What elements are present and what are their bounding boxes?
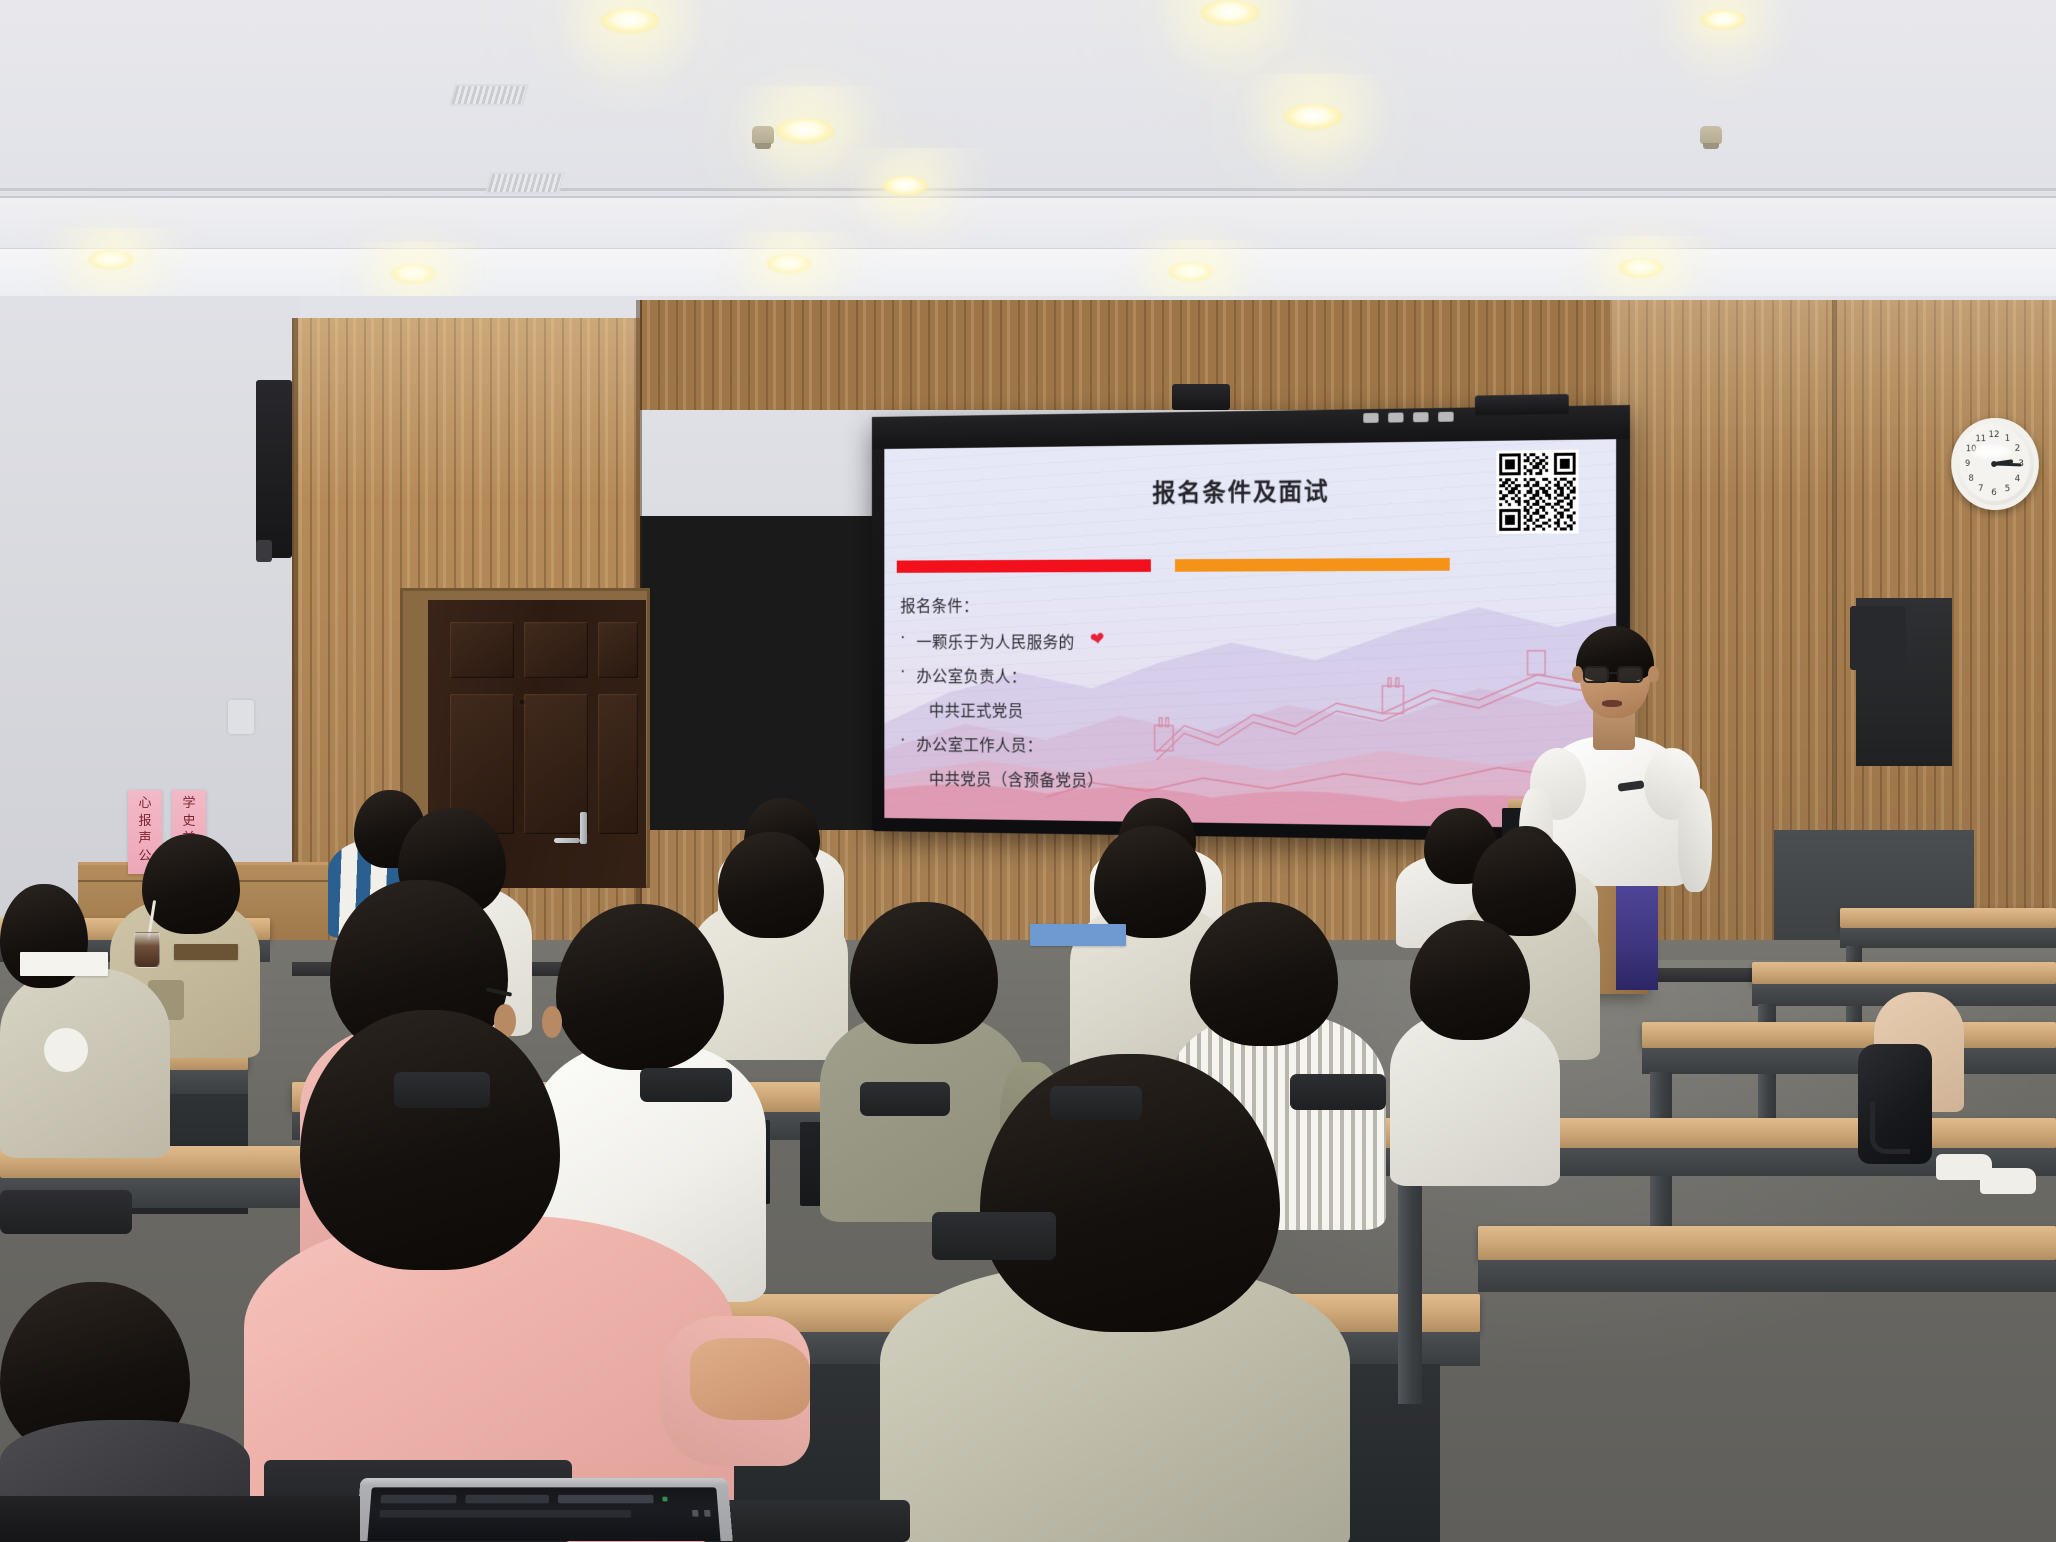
student-head bbox=[850, 902, 998, 1044]
speaker-mount bbox=[256, 540, 272, 562]
air-vent-icon bbox=[449, 84, 529, 106]
slide-bullet-1-text: 一颗乐于为人民服务的 bbox=[916, 629, 1074, 653]
backpack bbox=[1858, 1044, 1932, 1164]
display-camera-icon bbox=[1475, 394, 1569, 415]
slide-bullet-2: · 办公室负责人： bbox=[900, 663, 1332, 689]
banner-char: 心 bbox=[138, 797, 151, 811]
student-head bbox=[1190, 902, 1338, 1046]
banner-char: 声 bbox=[138, 832, 151, 846]
glasses-icon bbox=[1583, 666, 1609, 683]
display-button[interactable] bbox=[1388, 413, 1403, 423]
laptop-lid bbox=[355, 1478, 732, 1541]
clock-numeral: 8 bbox=[1968, 474, 1973, 484]
ceiling-downlight bbox=[1200, 0, 1260, 26]
slide-bullet-3-text: 办公室工作人员： bbox=[916, 731, 1042, 756]
glasses-bridge bbox=[1609, 672, 1619, 674]
chair-back bbox=[640, 1068, 732, 1102]
clock-numeral: 5 bbox=[2005, 484, 2011, 494]
bullet-dot-icon: · bbox=[900, 629, 905, 647]
notebook bbox=[174, 944, 238, 960]
projector-unit bbox=[1172, 384, 1230, 410]
classroom-scene: 报名条件及面试 bbox=[0, 0, 2056, 1542]
banner-char: 报 bbox=[138, 815, 151, 829]
wall-speaker bbox=[1850, 606, 1906, 670]
student-ear bbox=[542, 1006, 562, 1038]
clock-numeral: 6 bbox=[1991, 488, 1996, 498]
door-lever-handle[interactable] bbox=[554, 838, 580, 843]
chair-back bbox=[394, 1072, 490, 1108]
desk-row1-right bbox=[1840, 908, 2056, 928]
fire-sprinkler-icon bbox=[752, 126, 774, 144]
display-button[interactable] bbox=[1438, 412, 1453, 422]
shoe bbox=[1980, 1168, 2036, 1194]
ceiling-downlight bbox=[882, 176, 928, 196]
ceiling-downlight bbox=[88, 250, 134, 270]
ceiling-downlight bbox=[390, 264, 436, 284]
banner-char: 学 bbox=[182, 797, 195, 811]
fire-sprinkler-icon bbox=[1700, 126, 1722, 144]
ceiling-soffit-line bbox=[0, 188, 2056, 191]
ceiling-downlight bbox=[1168, 262, 1214, 282]
student-shirt bbox=[0, 968, 170, 1158]
browser-tab[interactable] bbox=[465, 1495, 549, 1503]
student-shirt-logo bbox=[44, 1028, 88, 1072]
ceiling-downlight bbox=[1700, 10, 1746, 30]
door-panel bbox=[598, 622, 638, 678]
ceiling-downlight bbox=[1283, 104, 1343, 130]
desk-front bbox=[1840, 928, 2056, 948]
browser-toolbar-icons[interactable] bbox=[692, 1510, 711, 1517]
clock-face: 12 1 2 3 4 5 6 7 8 9 10 11 bbox=[1959, 426, 2029, 501]
bullet-dot-icon: · bbox=[900, 663, 905, 681]
desk-front bbox=[1642, 1048, 2056, 1074]
accent-bar-orange bbox=[1175, 558, 1450, 572]
slide-bullet-1: · 一颗乐于为人民服务的 ❤ bbox=[900, 629, 1332, 654]
paper-sheet bbox=[20, 952, 108, 976]
door-panel bbox=[598, 694, 638, 834]
glasses-icon bbox=[1617, 666, 1643, 683]
door-handle-plate[interactable] bbox=[580, 812, 587, 844]
slide-bullet-3-sub: 中共党员（含预备党员） bbox=[929, 765, 1333, 794]
browser-tab-bar[interactable] bbox=[370, 1493, 717, 1505]
air-vent-icon bbox=[485, 172, 565, 194]
chair-back bbox=[860, 1082, 950, 1116]
display-button[interactable] bbox=[1413, 412, 1428, 422]
display-control-buttons[interactable] bbox=[1363, 412, 1453, 423]
student-head bbox=[1094, 826, 1206, 938]
ceiling-downlight bbox=[600, 8, 660, 34]
student-head bbox=[556, 904, 724, 1070]
ceiling-edge-band bbox=[0, 248, 2056, 300]
desk-right-front bbox=[1478, 1226, 2056, 1260]
tab-favicon-icon bbox=[662, 1497, 667, 1502]
student-head bbox=[718, 832, 824, 938]
slide-bullet-2-text: 办公室负责人： bbox=[916, 663, 1026, 687]
browser-tab-active[interactable] bbox=[558, 1495, 654, 1503]
laptop[interactable] bbox=[355, 1478, 732, 1541]
door-panel bbox=[450, 622, 514, 678]
clock-numeral: 11 bbox=[1975, 434, 1986, 444]
chair-back bbox=[1290, 1074, 1386, 1110]
clock-numeral: 2 bbox=[2015, 444, 2021, 454]
clock-numeral: 4 bbox=[2015, 474, 2021, 484]
qr-code[interactable] bbox=[1496, 450, 1578, 534]
iced-drink-cup bbox=[134, 932, 160, 968]
desk-row3-right bbox=[1642, 1022, 2056, 1048]
desk-leg bbox=[1398, 1174, 1422, 1404]
desk-row2-right bbox=[1752, 962, 2056, 984]
display-button[interactable] bbox=[1363, 413, 1378, 423]
slide-bullet-2-sub: 中共正式党员 bbox=[929, 697, 1333, 724]
clock-numeral: 9 bbox=[1965, 459, 1970, 469]
bullet-dot-icon: · bbox=[900, 731, 905, 749]
clock-center-pin bbox=[1991, 461, 1997, 467]
student-hand bbox=[690, 1338, 810, 1420]
slide-lead-label: 报名条件： bbox=[900, 592, 1332, 617]
light-switch[interactable] bbox=[228, 700, 254, 734]
chair-back bbox=[0, 1190, 132, 1234]
presentation-slide: 报名条件及面试 bbox=[884, 439, 1616, 829]
door-panel bbox=[524, 622, 588, 678]
slide-body: 报名条件： · 一颗乐于为人民服务的 ❤ · 办公室负责人： 中共正式党员 · … bbox=[900, 592, 1332, 805]
presenter-mouth bbox=[1602, 700, 1622, 707]
slide-bullet-3: · 办公室工作人员： bbox=[900, 731, 1332, 759]
chair-back bbox=[1050, 1086, 1142, 1120]
browser-address-bar[interactable] bbox=[379, 1510, 631, 1518]
clock-minute-hand bbox=[1994, 463, 2021, 467]
wall-display[interactable]: 报名条件及面试 bbox=[872, 405, 1630, 843]
clock-numeral: 1 bbox=[2005, 434, 2011, 444]
backpack-strap bbox=[1870, 1102, 1910, 1154]
student-head bbox=[1410, 920, 1530, 1040]
presenter-ear bbox=[1572, 666, 1583, 683]
paper-sheet bbox=[1030, 924, 1126, 946]
presenter-ear bbox=[1648, 666, 1659, 683]
ceiling-downlight bbox=[1618, 258, 1664, 278]
student-head bbox=[142, 834, 240, 934]
accent-bar-red bbox=[897, 559, 1151, 573]
clock-numeral: 7 bbox=[1978, 484, 1983, 494]
qr-code-icon bbox=[1499, 453, 1575, 531]
door-panel bbox=[524, 694, 588, 834]
browser-icon[interactable] bbox=[692, 1510, 698, 1517]
presenter-arm bbox=[1678, 788, 1712, 892]
chair-back bbox=[932, 1212, 1056, 1260]
wood-slat-wall-upper bbox=[640, 300, 1620, 410]
browser-icon[interactable] bbox=[704, 1510, 711, 1517]
browser-tab[interactable] bbox=[380, 1495, 456, 1503]
laptop-screen[interactable] bbox=[367, 1487, 720, 1541]
clock-numeral: 12 bbox=[1989, 430, 2000, 440]
ceiling-downlight bbox=[766, 254, 812, 274]
desk-front bbox=[1478, 1260, 2056, 1292]
wall-speaker bbox=[256, 380, 292, 558]
banner-char: 史 bbox=[182, 815, 195, 829]
student-head bbox=[1472, 832, 1576, 936]
student-head bbox=[300, 1010, 560, 1270]
door-peephole-icon bbox=[518, 698, 525, 706]
heart-icon: ❤ bbox=[1089, 628, 1107, 651]
foreground-shadow bbox=[0, 1496, 360, 1542]
clock-glass-reflection bbox=[1972, 445, 2010, 458]
ceiling-downlight bbox=[775, 118, 835, 144]
